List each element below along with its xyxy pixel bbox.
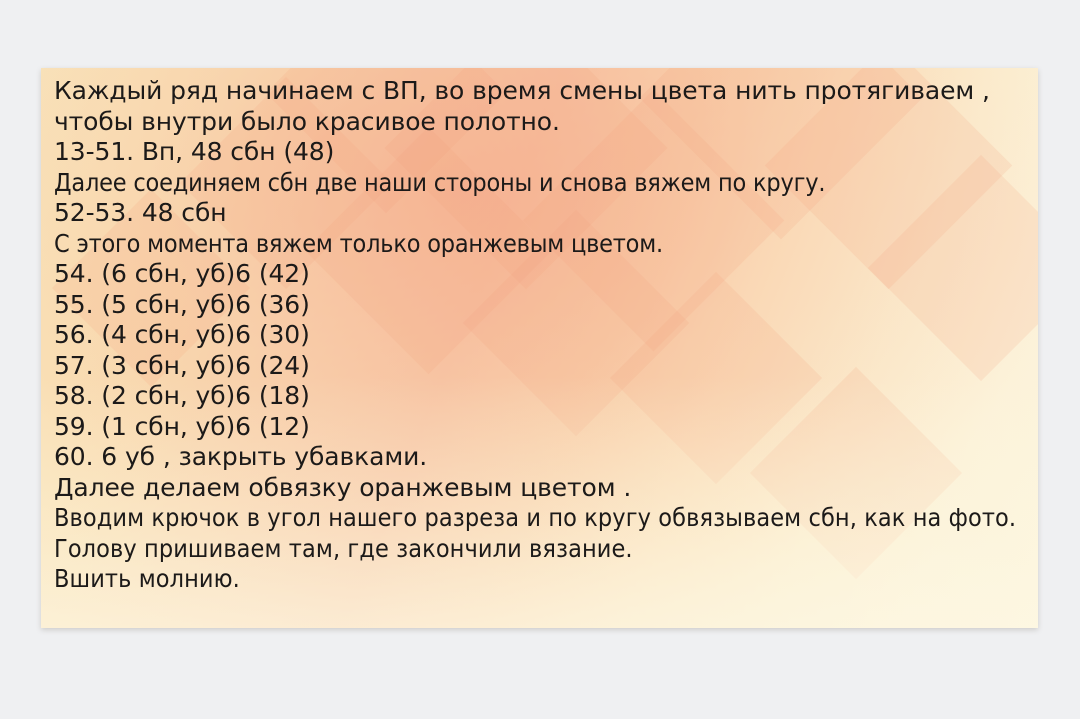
pattern-row-58: 58. (2 сбн, уб)6 (18) (54, 381, 1028, 412)
pattern-line: Далее делаем обвязку оранжевым цветом . (54, 473, 1028, 504)
pattern-line: Каждый ряд начинаем с ВП, во время смены… (54, 76, 1028, 137)
pattern-line: Вводим крючок в угол нашего разреза и по… (54, 503, 1028, 534)
pattern-text-block: Каждый ряд начинаем с ВП, во время смены… (54, 76, 1028, 595)
pattern-line: Голову пришиваем там, где закончили вяза… (54, 534, 1028, 565)
pattern-row-13-51: 13-51. Вп, 48 сбн (48) (54, 137, 1028, 168)
pattern-line: Вшить молнию. (54, 564, 1028, 595)
pattern-row-56: 56. (4 сбн, уб)6 (30) (54, 320, 1028, 351)
pattern-card: Каждый ряд начинаем с ВП, во время смены… (41, 68, 1038, 628)
pattern-note: С этого момента вяжем только оранжевым ц… (54, 229, 1028, 260)
pattern-note: Далее соединяем сбн две наши стороны и с… (54, 168, 1028, 199)
pattern-row-55: 55. (5 сбн, уб)6 (36) (54, 290, 1028, 321)
pattern-row-52-53: 52-53. 48 сбн (54, 198, 1028, 229)
pattern-row-57: 57. (3 сбн, уб)6 (24) (54, 351, 1028, 382)
pattern-row-54: 54. (6 сбн, уб)6 (42) (54, 259, 1028, 290)
pattern-row-60: 60. 6 уб , закрыть убавками. (54, 442, 1028, 473)
screenshot-root: Каждый ряд начинаем с ВП, во время смены… (0, 0, 1080, 719)
pattern-row-59: 59. (1 сбн, уб)6 (12) (54, 412, 1028, 443)
